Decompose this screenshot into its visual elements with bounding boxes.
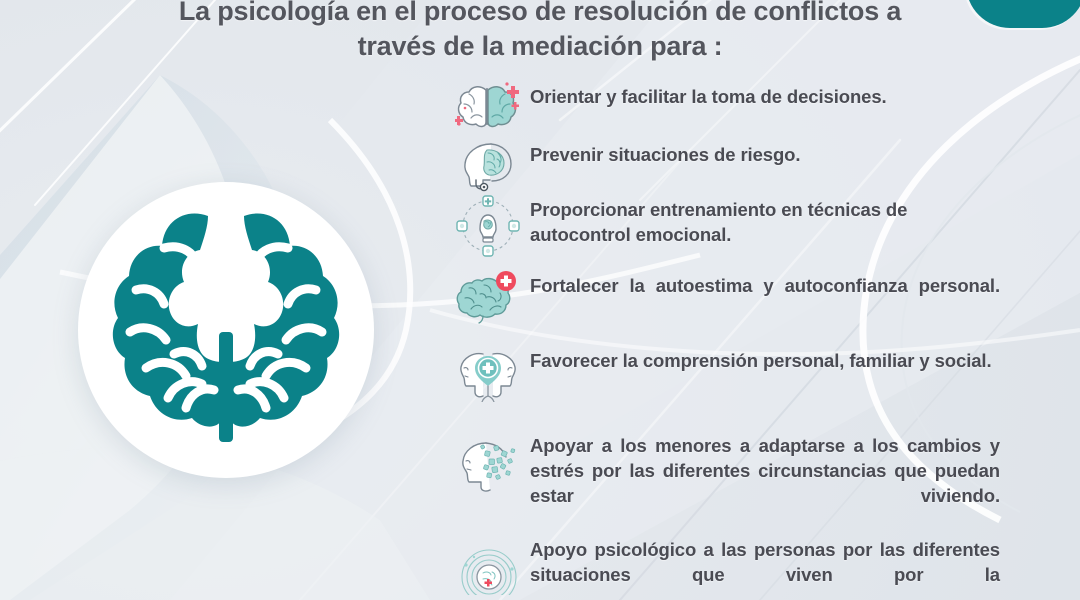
benefits-list: Orientar y facilitar la toma de decision… <box>446 82 1046 595</box>
list-item-text: Orientar y facilitar la toma de decision… <box>530 82 1000 109</box>
brain-psi-icon <box>112 212 340 448</box>
infographic-canvas: La psicología en el proceso de resolució… <box>0 0 1080 600</box>
list-item: Apoyo psicológico a las personas por las… <box>446 535 1046 595</box>
list-item: Orientar y facilitar la toma de decision… <box>446 82 1046 140</box>
lightbulb-brain-network-icon <box>446 195 530 257</box>
list-item: Prevenir situaciones de riesgo. <box>446 140 1046 195</box>
list-item-text: Proporcionar entrenamiento en técnicas d… <box>530 195 1000 247</box>
brain-medical-cross-icon <box>446 271 530 325</box>
list-item-text: Apoyar a los menores a adaptarse a los c… <box>530 431 1000 533</box>
brain-sparkles-icon <box>446 82 530 132</box>
list-item-text: Apoyo psicológico a las personas por las… <box>530 535 1000 600</box>
page-title: La psicología en el proceso de resolució… <box>0 0 1080 64</box>
head-brain-stethoscope-icon <box>446 140 530 192</box>
page-title-line-1: La psicología en el proceso de resolució… <box>179 0 901 26</box>
list-item: Favorecer la comprensión personal, famil… <box>446 346 1046 431</box>
list-item-text: Fortalecer la autoestima y autoconfianza… <box>530 271 1000 323</box>
list-item: Proporcionar entrenamiento en técnicas d… <box>446 195 1046 271</box>
list-item: Apoyar a los menores a adaptarse a los c… <box>446 431 1046 535</box>
page-title-line-2: través de la mediación para : <box>60 29 1020 64</box>
list-item-text: Prevenir situaciones de riesgo. <box>530 140 1000 167</box>
brain-psi-logo <box>78 182 374 478</box>
list-item: Fortalecer la autoestima y autoconfianza… <box>446 271 1046 346</box>
head-puzzle-fragments-icon <box>446 431 530 493</box>
list-item-text: Favorecer la comprensión personal, famil… <box>530 346 1000 373</box>
head-concentric-waves-icon <box>446 535 530 595</box>
two-heads-heart-cross-icon <box>446 346 530 402</box>
